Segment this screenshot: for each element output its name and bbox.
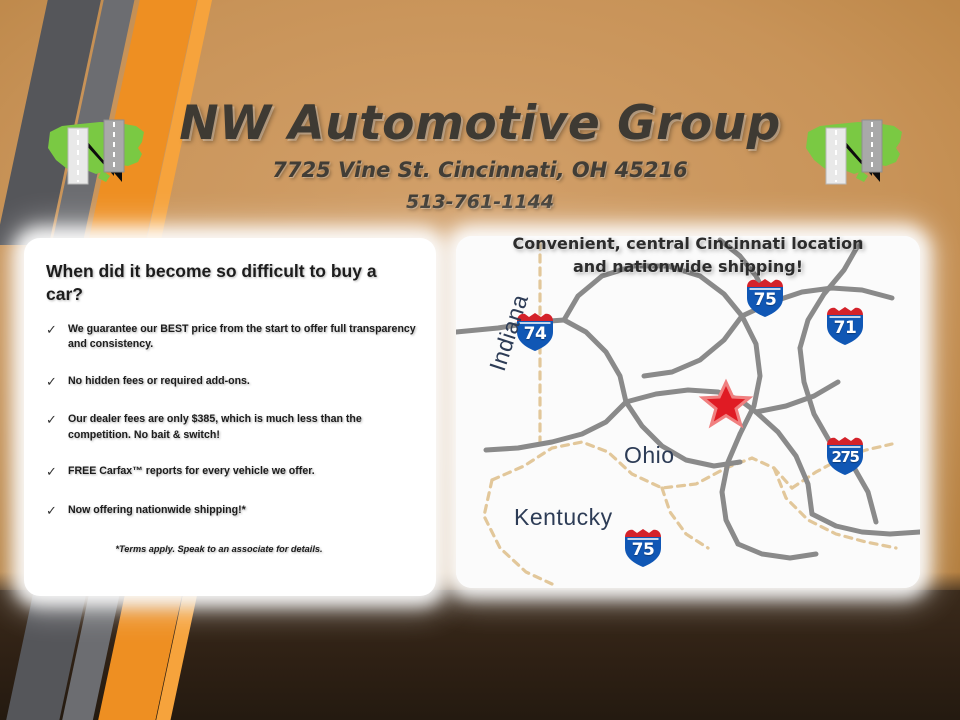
state-label-kentucky: Kentucky [514,504,613,531]
shield-i71: 71 [822,304,868,346]
check-icon: ✓ [46,322,68,340]
check-icon: ✓ [46,464,68,482]
terms-disclaimer: *Terms apply. Speak to an associate for … [24,544,414,554]
check-icon: ✓ [46,374,68,392]
panel-title: When did it become so difficult to buy a… [46,260,412,307]
benefits-panel: When did it become so difficult to buy a… [24,238,436,596]
shield-i75-north: 75 [742,276,788,318]
map-graphic [456,236,920,588]
list-item: ✓ We guarantee our BEST price from the s… [46,322,424,353]
shield-number: 71 [822,318,868,338]
list-item-label: No hidden fees or required add-ons. [68,374,424,389]
shield-number: 275 [822,448,868,466]
brand-phone: 513-761-1144 [0,191,960,213]
list-item-label: Now offering nationwide shipping!* [68,503,424,518]
brand-title: NW Automotive Group [0,96,960,151]
shield-number: 75 [742,290,788,310]
list-item: ✓ No hidden fees or required add-ons. [46,374,424,392]
list-item: ✓ Now offering nationwide shipping!* [46,503,424,521]
map-container: 74 75 71 [456,236,920,588]
brand-address: 7725 Vine St. Cincinnati, OH 45216 [0,158,960,182]
list-item-label: FREE Carfax™ reports for every vehicle w… [68,464,424,479]
state-label-ohio: Ohio [624,442,675,469]
header: NW Automotive Group 7725 Vine St. Cincin… [0,96,960,226]
shield-i275: 275 [822,434,868,476]
shield-i75-south: 75 [620,526,666,568]
check-icon: ✓ [46,503,68,521]
list-item: ✓ FREE Carfax™ reports for every vehicle… [46,464,424,482]
map-panel: 74 75 71 [456,236,920,588]
list-item: ✓ Our dealer fees are only $385, which i… [46,412,424,443]
slide-canvas: NW Automotive Group 7725 Vine St. Cincin… [0,0,960,720]
list-item-label: Our dealer fees are only $385, which is … [68,412,424,443]
list-item-label: We guarantee our BEST price from the sta… [68,322,424,353]
check-icon: ✓ [46,412,68,430]
shield-number: 75 [620,540,666,560]
benefits-list: ✓ We guarantee our BEST price from the s… [46,322,424,541]
